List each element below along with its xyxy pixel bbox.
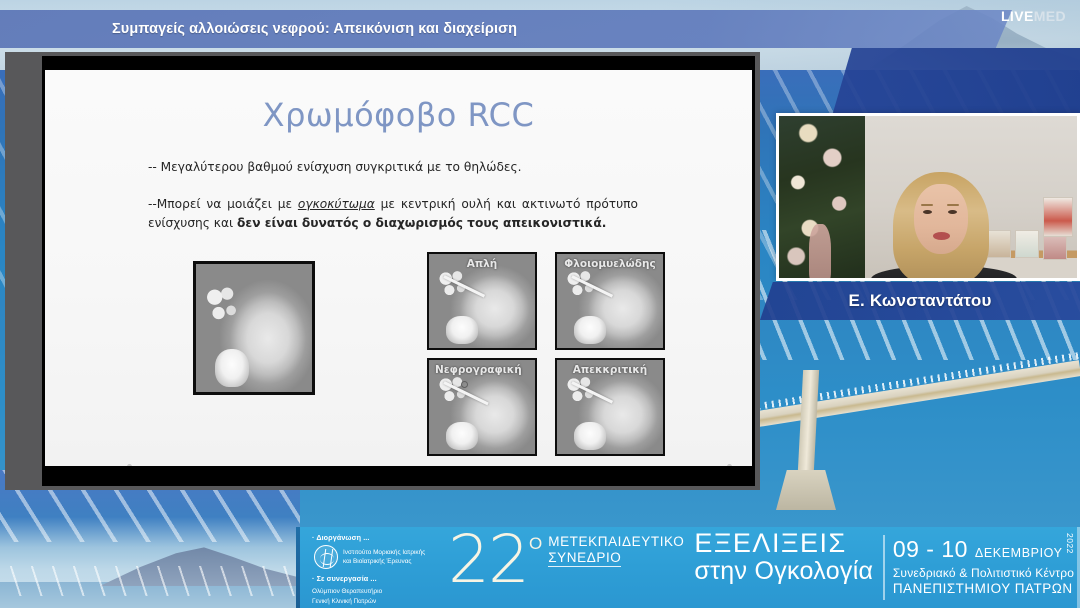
slide-viewer-bottom-letterbox [42, 466, 755, 486]
collaboration-heading: · Σε συνεργασία ... [312, 574, 444, 584]
conference-title-main: ΕΞΕΛΙΞΕΙΣ [694, 529, 873, 557]
ct-panel-apli: Απλή [427, 252, 537, 350]
webinar-player: Συμπαγείς αλλοιώσεις νεφρού: Απεικόνιση … [0, 0, 1080, 608]
ct-panel-spine [446, 316, 478, 344]
organizer-name-line2: και Βιοϊατρικής Έρευνας [343, 557, 425, 567]
ct-panel-label: Νεφρογραφική [429, 364, 535, 376]
organizer-block: · Διοργάνωση ... Ινστιτούτο Μοριακής Ιατ… [300, 527, 448, 608]
conference-date-days: 09 - 10 [893, 536, 968, 563]
presentation-slide: Χρωμόφοβο RCC -- Μεγαλύτερου βαθμού ενίσ… [45, 70, 752, 466]
conference-banner: · Διοργάνωση ... Ινστιτούτο Μοριακής Ιατ… [300, 527, 1080, 608]
slide-viewer[interactable]: Χρωμόφοβο RCC -- Μεγαλύτερου βαθμού ενίσ… [42, 56, 755, 486]
paragraph2-pre: --Μπορεί να μοιάζει με [148, 197, 298, 211]
ct-panel-apekkritiki: Απεκκριτική [555, 358, 665, 456]
ct-panel-spine [446, 422, 478, 450]
ct-panel-spine [574, 316, 606, 344]
paragraph2-underlined-term: ογκοκύτωμα [298, 197, 375, 211]
livemed-logo-live: LIVE [1001, 8, 1034, 24]
conference-venue-line2: ΠΑΝΕΠΙΣΤΗΜΙΟΥ ΠΑΤΡΩΝ [893, 581, 1074, 596]
livemed-logo[interactable]: LIVEMED [1001, 8, 1066, 24]
slide-marker-right [727, 464, 732, 466]
shelf-frame [1015, 230, 1039, 258]
conference-type: ΜΕΤΕΚΠΑΙΔΕΥΤΙΚΟ ΣΥΝΕΔΡΙΟ [548, 527, 684, 608]
slide-title: Χρωμόφοβο RCC [45, 96, 752, 134]
conference-date-row: 09 - 10 ΔΕΚΕΜΒΡΙΟΥ [893, 536, 1074, 563]
institute-logo-icon [314, 545, 338, 569]
session-title-bar: Συμπαγείς αλλοιώσεις νεφρού: Απεικόνιση … [0, 10, 1012, 48]
ct-image-main [193, 261, 315, 395]
conference-title: ΕΞΕΛΙΞΕΙΣ στην Ογκολογία [694, 527, 873, 608]
ct-panel-label: Φλοιομυελώδης [557, 258, 663, 270]
ct-panel-label: Απεκκριτική [557, 364, 663, 376]
speaker-eye [923, 210, 932, 214]
collaborator-line2: Γενική Κλινική Πατρών [312, 597, 444, 607]
conference-date-year: 2022 [1065, 533, 1075, 554]
ct-panel-nefrografiki: Νεφρογραφική [427, 358, 537, 456]
speaker-face [914, 184, 968, 254]
slide-paragraph-1: -- Μεγαλύτερου βαθμού ενίσχυση συγκριτικ… [148, 158, 668, 177]
speaker-name-banner: Ε. Κωνσταντάτου [760, 282, 1080, 320]
edition-number: 22 [448, 529, 528, 592]
organizer-name-line1: Ινστιτούτο Μοριακής Ιατρικής [343, 548, 425, 558]
speaker-brow [947, 204, 959, 206]
conference-type-line1: ΜΕΤΕΚΠΑΙΔΕΥΤΙΚΟ [548, 534, 684, 549]
conference-title-sub: στην Ογκολογία [694, 558, 873, 585]
ct-panel-marker-icon [461, 381, 468, 388]
lower-bridge-photo [0, 470, 300, 608]
speaker-portrait [887, 172, 995, 281]
conference-date-venue: 09 - 10 ΔΕΚΕΜΒΡΙΟΥ 2022 Συνεδριακό & Πολ… [893, 527, 1074, 608]
session-title: Συμπαγείς αλλοιώσεις νεφρού: Απεικόνιση … [112, 21, 517, 37]
conference-edition-number: 22 Ο [448, 527, 542, 608]
livemed-logo-med: MED [1034, 8, 1066, 24]
speaker-video[interactable] [776, 113, 1080, 281]
ct-main-texture [196, 264, 312, 392]
speaker-eye [948, 210, 957, 214]
ct-main-spine [215, 349, 250, 387]
shelf-frame [1043, 197, 1073, 237]
organizer-heading: · Διοργάνωση ... [312, 533, 444, 543]
ct-panel-floiomyelodis: Φλοιομυελώδης [555, 252, 665, 350]
collaborator-line1: Ολύμπιον Θεραπευτήριο [312, 587, 444, 597]
speaker-lips [933, 232, 950, 240]
ct-panel-label: Απλή [429, 258, 535, 270]
conference-date-month: ΔΕΚΕΜΒΡΙΟΥ [975, 546, 1063, 560]
video-top-banner [832, 48, 1080, 116]
edition-ordinal: Ο [529, 535, 542, 552]
slide-viewer-top-letterbox [42, 56, 755, 70]
ct-main-bowel [203, 284, 242, 328]
banner-divider [883, 535, 885, 600]
lower-bridge-span [10, 566, 300, 596]
tree-ribbon [809, 224, 831, 281]
paragraph2-bold: δεν είναι δυνατός ο διαχωρισμός τους απε… [237, 216, 606, 230]
ct-panel-spine [574, 422, 606, 450]
organizer-logo-row: Ινστιτούτο Μοριακής Ιατρικής και Βιοϊατρ… [314, 545, 444, 569]
speaker-brow [921, 204, 933, 206]
speaker-name: Ε. Κωνσταντάτου [848, 291, 991, 311]
organizer-name: Ινστιτούτο Μοριακής Ιατρικής και Βιοϊατρ… [343, 548, 425, 567]
slide-marker-left [127, 464, 132, 466]
slide-paragraph-2: --Μπορεί να μοιάζει με ογκοκύτωμα με κεν… [148, 195, 638, 233]
conference-venue-line1: Συνεδριακό & Πολιτιστικό Κέντρο [893, 566, 1074, 580]
conference-type-line2: ΣΥΝΕΔΡΙΟ [548, 550, 621, 567]
